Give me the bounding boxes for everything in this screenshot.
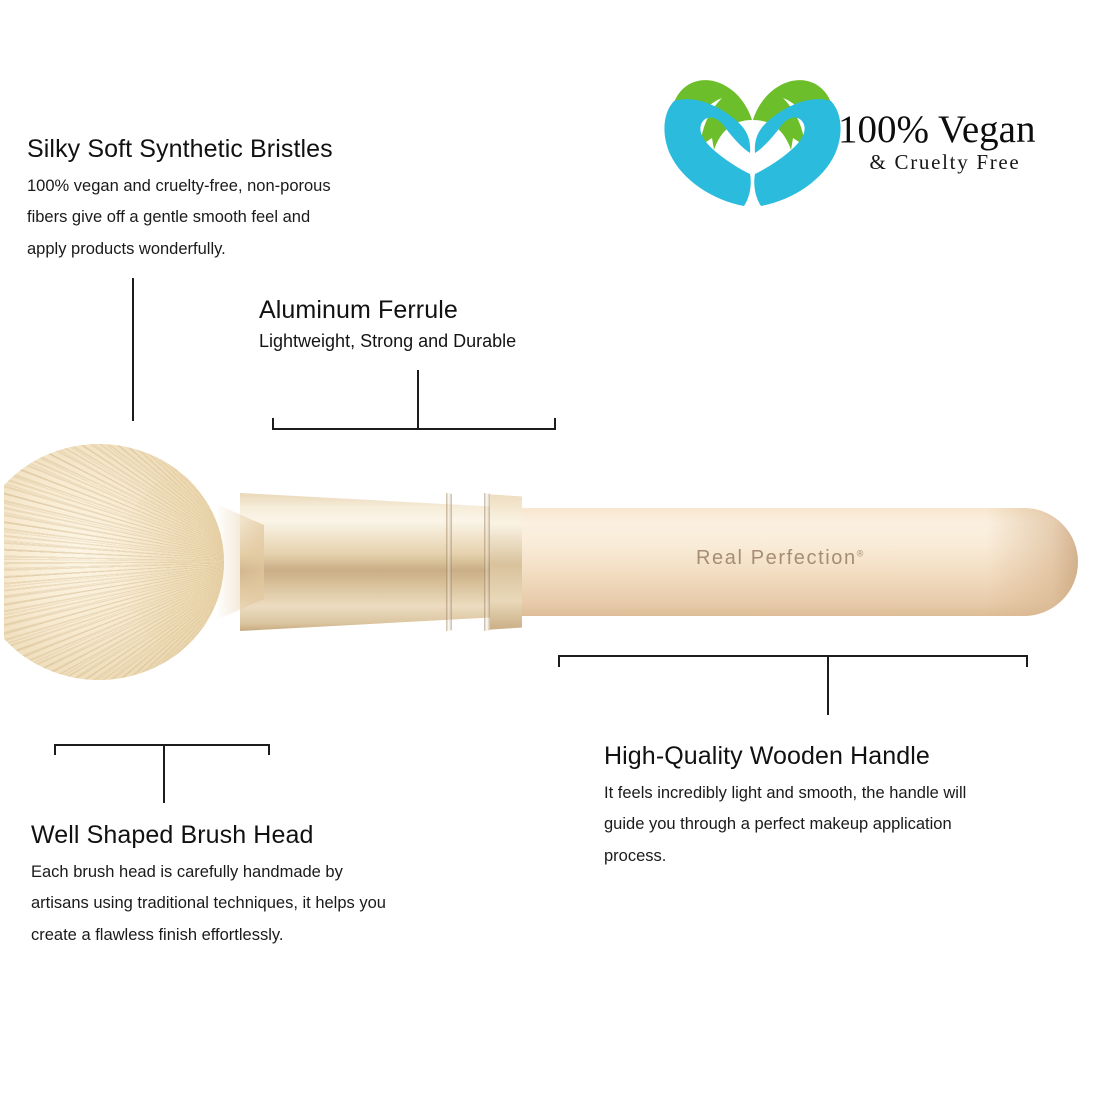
callout-body-line: artisans using traditional techniques, i… — [31, 888, 386, 920]
bracket-tip-right — [554, 418, 556, 430]
badge-title: 100% Vegan — [838, 110, 1058, 149]
bracket-ferrule — [272, 370, 556, 430]
brand-logo-text: Real Perfection® — [696, 547, 863, 570]
heart-hands-leaf-icon — [660, 58, 845, 208]
callout-title: Aluminum Ferrule — [259, 297, 516, 325]
badge-subtitle: & Cruelty Free — [838, 152, 1058, 173]
bracket-tip-left — [272, 418, 274, 430]
makeup-brush-product-image: Real Perfection® — [0, 430, 1100, 690]
callout-title: High-Quality Wooden Handle — [604, 743, 966, 771]
badge-text-block: 100% Vegan & Cruelty Free — [838, 110, 1058, 173]
callout-body: Each brush head is carefully handmade by… — [31, 857, 386, 952]
callout-body-line: fibers give off a gentle smooth feel and — [27, 202, 333, 234]
bracket-stem — [163, 744, 165, 803]
callout-body-line: process. — [604, 841, 966, 873]
bracket-stem — [417, 370, 419, 428]
registered-trademark-mark: ® — [857, 548, 864, 558]
ferrule-collar — [490, 493, 522, 631]
bracket-stem — [827, 655, 829, 715]
brush-bristles — [4, 444, 254, 680]
callout-body-line: guide you through a perfect makeup appli… — [604, 809, 966, 841]
callout-subtitle: Lightweight, Strong and Durable — [259, 331, 516, 353]
callout-body: 100% vegan and cruelty-free, non-porous … — [27, 171, 333, 266]
callout-body-line: create a flawless finish effortlessly. — [31, 920, 386, 952]
bracket-wooden-handle — [558, 655, 1028, 715]
callout-body: It feels incredibly light and smooth, th… — [604, 778, 966, 873]
bracket-tip-right — [268, 744, 270, 755]
brush-handle: Real Perfection® — [500, 508, 1078, 616]
infographic-canvas: 100% Vegan & Cruelty Free Silky Soft Syn… — [0, 0, 1100, 1100]
vegan-cruelty-free-badge: 100% Vegan & Cruelty Free — [660, 58, 1055, 208]
callout-high-quality-wooden-handle: High-Quality Wooden Handle It feels incr… — [604, 743, 966, 873]
ferrule-ring-groove — [484, 493, 490, 631]
callout-body-line: It feels incredibly light and smooth, th… — [604, 778, 966, 810]
bracket-bar — [54, 744, 270, 746]
brand-name: Real Perfection — [696, 547, 857, 569]
bracket-tip-right — [1026, 655, 1028, 667]
bracket-bar — [558, 655, 1028, 657]
callout-title: Silky Soft Synthetic Bristles — [27, 136, 333, 164]
brush-ferrule — [240, 493, 522, 631]
bracket-tip-left — [54, 744, 56, 755]
callout-body-line: Each brush head is carefully handmade by — [31, 857, 386, 889]
leader-line-bristles — [132, 278, 134, 421]
callout-title: Well Shaped Brush Head — [31, 822, 386, 850]
callout-silky-soft-synthetic-bristles: Silky Soft Synthetic Bristles 100% vegan… — [27, 136, 333, 266]
callout-body-line: apply products wonderfully. — [27, 234, 333, 266]
callout-body-line: 100% vegan and cruelty-free, non-porous — [27, 171, 333, 203]
ferrule-body — [240, 493, 522, 631]
callout-aluminum-ferrule: Aluminum Ferrule Lightweight, Strong and… — [259, 297, 516, 352]
bracket-brush-head — [54, 744, 270, 803]
ferrule-ring-groove — [446, 493, 452, 631]
bracket-tip-left — [558, 655, 560, 667]
callout-well-shaped-brush-head: Well Shaped Brush Head Each brush head i… — [31, 822, 386, 952]
heart-hands-svg — [660, 58, 845, 208]
handle-end-shading — [986, 508, 1078, 616]
